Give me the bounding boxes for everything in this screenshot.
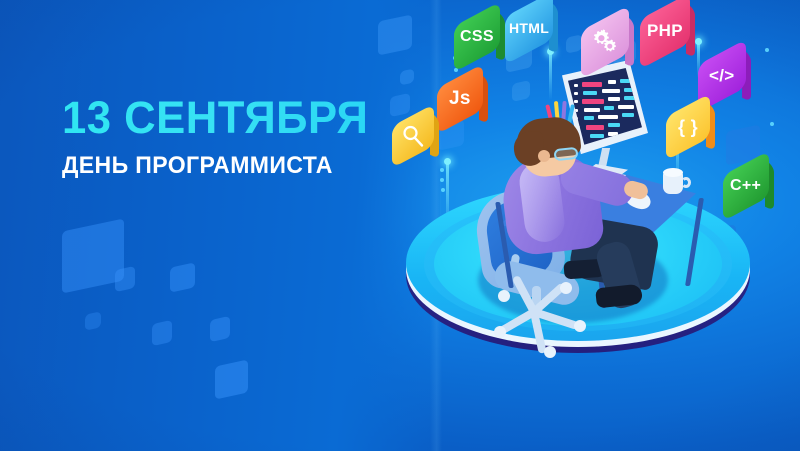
code-line <box>608 80 616 84</box>
poster-canvas: 13 СЕНТЯБРЯ 13 СЕНТЯБРЯ ДЕНЬ ПРОГРАММИСТ… <box>0 0 800 451</box>
icon-gears[interactable] <box>581 18 629 66</box>
beam-dot <box>440 178 444 182</box>
icon-search[interactable] <box>392 115 434 157</box>
beam-dot <box>444 158 451 165</box>
code-line <box>582 99 604 104</box>
code-line <box>618 105 634 109</box>
icon-cpp-label: C++ <box>730 177 761 195</box>
beam-dot <box>765 48 769 52</box>
code-line <box>608 97 620 101</box>
icon-php[interactable]: PHP <box>640 6 690 56</box>
icon-html-label: HTML <box>509 20 549 36</box>
programmer <box>498 110 658 320</box>
search-icon <box>401 124 425 148</box>
icon-braces-label: { } <box>678 117 698 138</box>
icon-php-label: PHP <box>647 21 683 41</box>
icon-cpp[interactable]: C++ <box>723 163 769 209</box>
icon-js-label: Js <box>449 88 471 110</box>
code-line <box>574 100 578 103</box>
code-line <box>582 82 602 87</box>
decor-rhombus <box>378 14 412 55</box>
icon-code-label: </> <box>709 66 734 86</box>
light-beam <box>549 52 552 100</box>
icon-css-label: CSS <box>460 28 494 46</box>
page-subtitle: ДЕНЬ ПРОГРАММИСТА <box>62 152 408 180</box>
desk-leg <box>685 198 704 286</box>
beam-dot <box>695 38 702 45</box>
decor-rhombus <box>215 359 248 399</box>
page-title: 13 СЕНТЯБРЯ <box>62 95 411 140</box>
icon-js[interactable]: Js <box>437 76 483 122</box>
headline-block: 13 СЕНТЯБРЯ 13 СЕНТЯБРЯ ДЕНЬ ПРОГРАММИСТ… <box>62 95 422 180</box>
beam-dot <box>440 168 444 172</box>
icon-braces[interactable]: { } <box>666 105 710 149</box>
code-line <box>583 91 597 95</box>
icon-html[interactable]: HTML <box>505 4 553 52</box>
coffee-mug-rim <box>663 168 683 177</box>
gear-icon <box>591 29 619 55</box>
icon-code[interactable]: </> <box>698 52 746 100</box>
beam-dot <box>770 122 774 126</box>
code-line <box>574 92 578 95</box>
chair-caster <box>544 346 556 358</box>
icon-css[interactable]: CSS <box>454 14 500 60</box>
person-ear <box>538 150 550 162</box>
person-shoe-front <box>595 284 643 309</box>
code-line <box>602 89 620 93</box>
code-line <box>574 84 578 87</box>
coffee-mug-handle <box>681 177 691 188</box>
